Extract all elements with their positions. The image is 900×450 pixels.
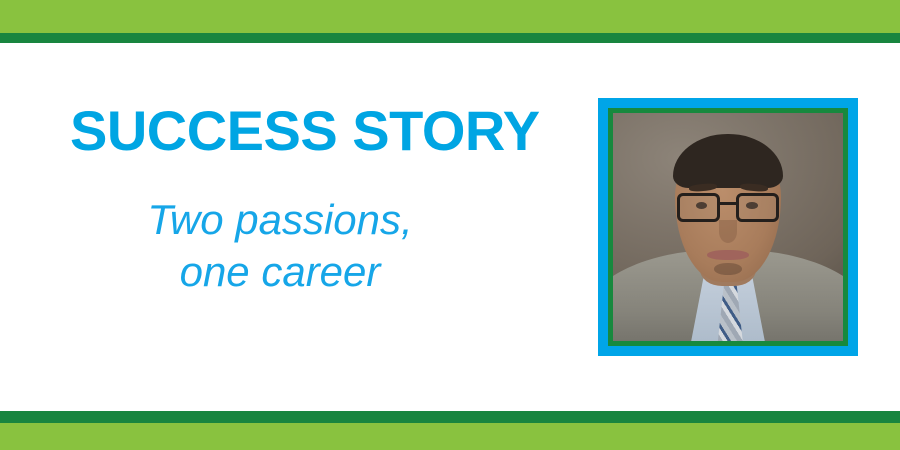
chin-shadow [714,263,742,274]
lens-right [736,193,778,223]
bottom-light-green-band [0,423,900,450]
subtitle-line-2: one career [60,246,500,298]
success-story-banner: SUCCESS STORY Two passions, one career [0,0,900,450]
subtitle: Two passions, one career [60,194,500,298]
subtitle-line-1: Two passions, [60,194,500,246]
glasses-bridge [720,202,736,205]
text-block: SUCCESS STORY Two passions, one career [60,100,560,298]
portrait-frame [598,98,858,356]
portrait-photo [613,113,843,341]
eyeglasses-icon [677,193,778,223]
portrait-inner-border [608,108,848,346]
top-dark-green-band [0,33,900,43]
nose [719,220,737,243]
bottom-dark-green-band [0,411,900,423]
lens-left [677,193,719,223]
top-light-green-band [0,0,900,33]
page-title: SUCCESS STORY [70,100,560,162]
lips [707,250,748,260]
